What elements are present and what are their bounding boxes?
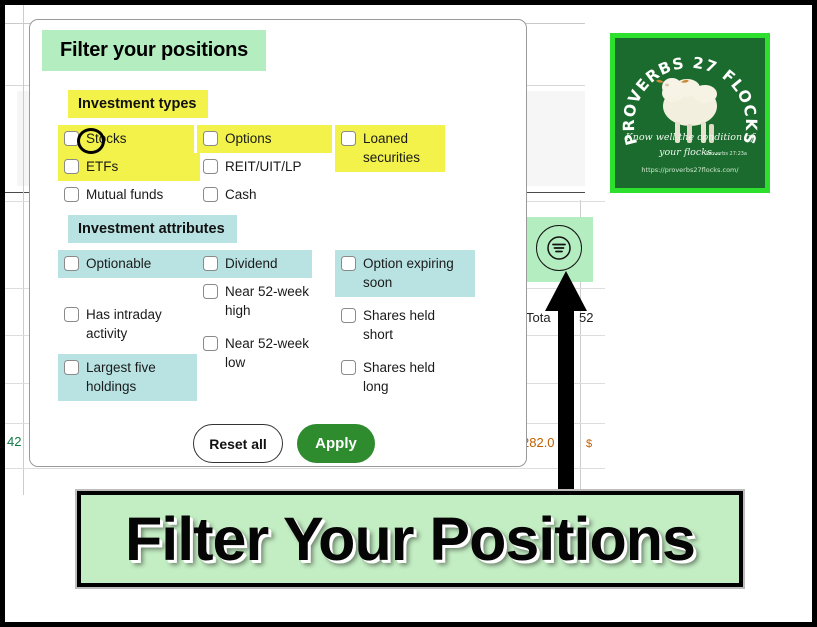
checkbox-label: Shares held long: [363, 358, 435, 396]
checkbox-near-52-week-low[interactable]: Near 52-week low: [197, 330, 327, 377]
investment-attributes-heading: Investment attributes: [68, 215, 237, 243]
checkbox-label: Near 52-week low: [225, 334, 309, 372]
checkbox-etfs[interactable]: ETFs: [58, 153, 200, 181]
checkbox-box-icon[interactable]: [341, 256, 356, 271]
checkbox-largest-five-holdings[interactable]: Largest five holdings: [58, 354, 197, 401]
checkbox-label: Options: [225, 129, 272, 148]
checkbox-box-icon[interactable]: [341, 360, 356, 375]
checkbox-shares-held-long[interactable]: Shares held long: [335, 354, 475, 401]
checkbox-label: REIT/UIT/LP: [225, 157, 302, 176]
checkbox-options[interactable]: Options: [197, 125, 332, 153]
checkbox-label: Dividend: [225, 254, 278, 273]
checkbox-label: Largest five holdings: [86, 358, 156, 396]
investment-types-heading: Investment types: [68, 90, 208, 118]
checkbox-label: Has intraday activity: [86, 305, 162, 343]
investment-attributes-heading-wrap: Investment attributes: [68, 215, 237, 243]
apply-button[interactable]: Apply: [297, 424, 375, 463]
bottom-banner: Filter Your Positions: [77, 491, 743, 587]
checkbox-label: Loaned securities: [363, 129, 420, 167]
background-row-divider: [5, 468, 605, 469]
logo-tagline-line1: Know well the condition of: [615, 132, 765, 143]
checkbox-box-icon[interactable]: [64, 256, 79, 271]
checkbox-box-icon[interactable]: [203, 131, 218, 146]
checkbox-label: Shares held short: [363, 306, 435, 344]
annotation-arrow-up: [545, 271, 587, 496]
checkbox-has-intraday-activity[interactable]: Has intraday activity: [58, 301, 197, 348]
checkbox-box-icon[interactable]: [64, 360, 79, 375]
filter-positions-dialog: Filter your positions Investment types S…: [29, 19, 527, 467]
checkbox-box-icon[interactable]: [203, 159, 218, 174]
checkbox-cash[interactable]: Cash: [197, 181, 332, 209]
checkbox-box-icon[interactable]: [341, 308, 356, 323]
checkbox-label: Cash: [225, 185, 257, 204]
checkbox-label: Stocks: [86, 129, 127, 148]
logo-url: https://proverbs27flocks.com/: [615, 166, 765, 174]
checkbox-optionable[interactable]: Optionable: [58, 250, 197, 278]
filter-lines-icon[interactable]: [536, 225, 582, 271]
reset-all-button[interactable]: Reset all: [193, 424, 283, 463]
checkbox-box-icon[interactable]: [64, 187, 79, 202]
checkbox-reit-uit-lp[interactable]: REIT/UIT/LP: [197, 153, 332, 181]
banner-text: Filter Your Positions: [125, 504, 695, 574]
checkbox-dividend[interactable]: Dividend: [197, 250, 312, 278]
checkbox-box-icon[interactable]: [203, 284, 218, 299]
background-column-line-left: [23, 5, 24, 495]
checkbox-stocks[interactable]: Stocks: [58, 125, 194, 153]
dialog-title-wrap: Filter your positions: [42, 30, 266, 71]
checkbox-label: Option expiring soon: [363, 254, 454, 292]
checkbox-loaned-securities[interactable]: Loaned securities: [335, 125, 445, 172]
checkbox-option-expiring-soon[interactable]: Option expiring soon: [335, 250, 475, 297]
checkbox-box-icon[interactable]: [341, 131, 356, 146]
checkbox-box-icon[interactable]: [203, 256, 218, 271]
screenshot-root: eam er Service Tota 52 42 282.0 $: [0, 0, 817, 627]
checkbox-label: ETFs: [86, 157, 118, 176]
checkbox-label: Near 52-week high: [225, 282, 309, 320]
checkbox-near-52-week-high[interactable]: Near 52-week high: [197, 278, 327, 325]
checkbox-box-icon[interactable]: [64, 307, 79, 322]
checkbox-label: Optionable: [86, 254, 151, 273]
proverbs-27-flocks-logo: PROVERBS 27 FLOCKS: [610, 33, 770, 193]
page-title: Filter your positions: [42, 30, 266, 71]
checkbox-box-icon[interactable]: [64, 131, 79, 146]
checkbox-label: Mutual funds: [86, 185, 163, 204]
investment-types-heading-wrap: Investment types: [68, 90, 208, 118]
checkbox-mutual-funds[interactable]: Mutual funds: [58, 181, 208, 209]
checkbox-box-icon[interactable]: [64, 159, 79, 174]
background-percent-value: 42: [7, 434, 21, 449]
checkbox-box-icon[interactable]: [203, 187, 218, 202]
checkbox-shares-held-short[interactable]: Shares held short: [335, 302, 475, 349]
checkbox-box-icon[interactable]: [203, 336, 218, 351]
logo-scripture-reference: Proverbs 27:23a: [706, 151, 747, 157]
